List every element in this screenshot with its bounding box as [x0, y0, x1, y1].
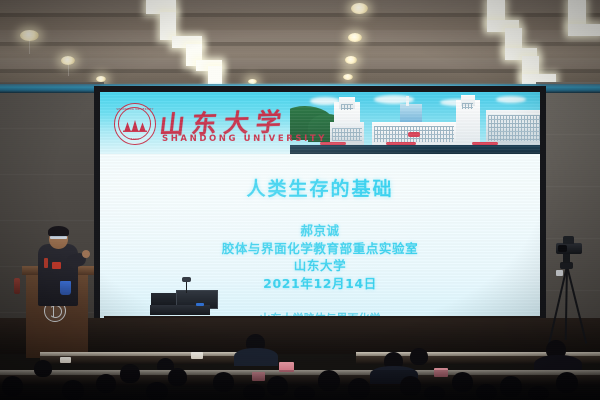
presenter-tie [44, 258, 48, 268]
gooseneck-microphone-icon [182, 277, 191, 282]
audience-desk [40, 356, 250, 364]
desk-name-placard [60, 357, 71, 363]
presenter-badge [52, 262, 61, 269]
seal-mountain-icon [123, 117, 147, 130]
seal-text-top: SHANDONG UNIVERSITY [115, 108, 155, 111]
slide-body: 郝京诚 胶体与界面化学教育部重点实验室 山东大学 2021年12月14日 [100, 222, 540, 292]
device-status-led [196, 303, 204, 306]
recessed-downlight [351, 3, 368, 14]
audience-head [410, 348, 428, 365]
blue-paper-cup [60, 281, 71, 295]
foreground-shadow [0, 370, 600, 400]
gooseneck-microphone-stem [186, 281, 187, 293]
presenter-glasses-icon [50, 236, 67, 239]
tripod-hub [560, 262, 573, 269]
camera-mount-head [563, 254, 570, 263]
slide-title: 人类生存的基础 [100, 174, 540, 201]
presenter-lab: 胶体与界面化学教育部重点实验室 [100, 240, 540, 258]
camera-top-handle [563, 236, 574, 244]
stage-front [0, 318, 600, 354]
presentation-date: 2021年12月14日 [100, 275, 540, 293]
tripod-adjust-knob [556, 270, 563, 276]
seal-text-bottom: 1901 [115, 137, 155, 141]
campus-photo [290, 92, 540, 154]
ceiling-led-strip [568, 24, 600, 36]
lecture-hall-photo: SHANDONG UNIVERSITY 1901 山东大学 SHANDONG U… [0, 0, 600, 400]
presenter-institution: 山东大学 [100, 257, 540, 275]
presenter-name: 郝京诚 [100, 222, 540, 240]
university-wordmark-en: SHANDONG UNIVERSITY [162, 134, 327, 144]
recessed-downlight [348, 33, 362, 42]
desk-name-placard [191, 352, 203, 359]
shandong-university-seal-icon: SHANDONG UNIVERSITY 1901 [114, 103, 156, 145]
presenter-torso [38, 244, 78, 306]
presenter-hand [82, 250, 90, 258]
camera-lens-icon [558, 245, 567, 252]
water-bottle [14, 278, 20, 294]
audience-shoulders [234, 348, 278, 366]
slide-header-band: SHANDONG UNIVERSITY 1901 山东大学 SHANDONG U… [100, 92, 540, 154]
recessed-downlight [343, 74, 353, 80]
recessed-downlight [345, 56, 357, 64]
presenter-laptop-base [150, 305, 210, 315]
